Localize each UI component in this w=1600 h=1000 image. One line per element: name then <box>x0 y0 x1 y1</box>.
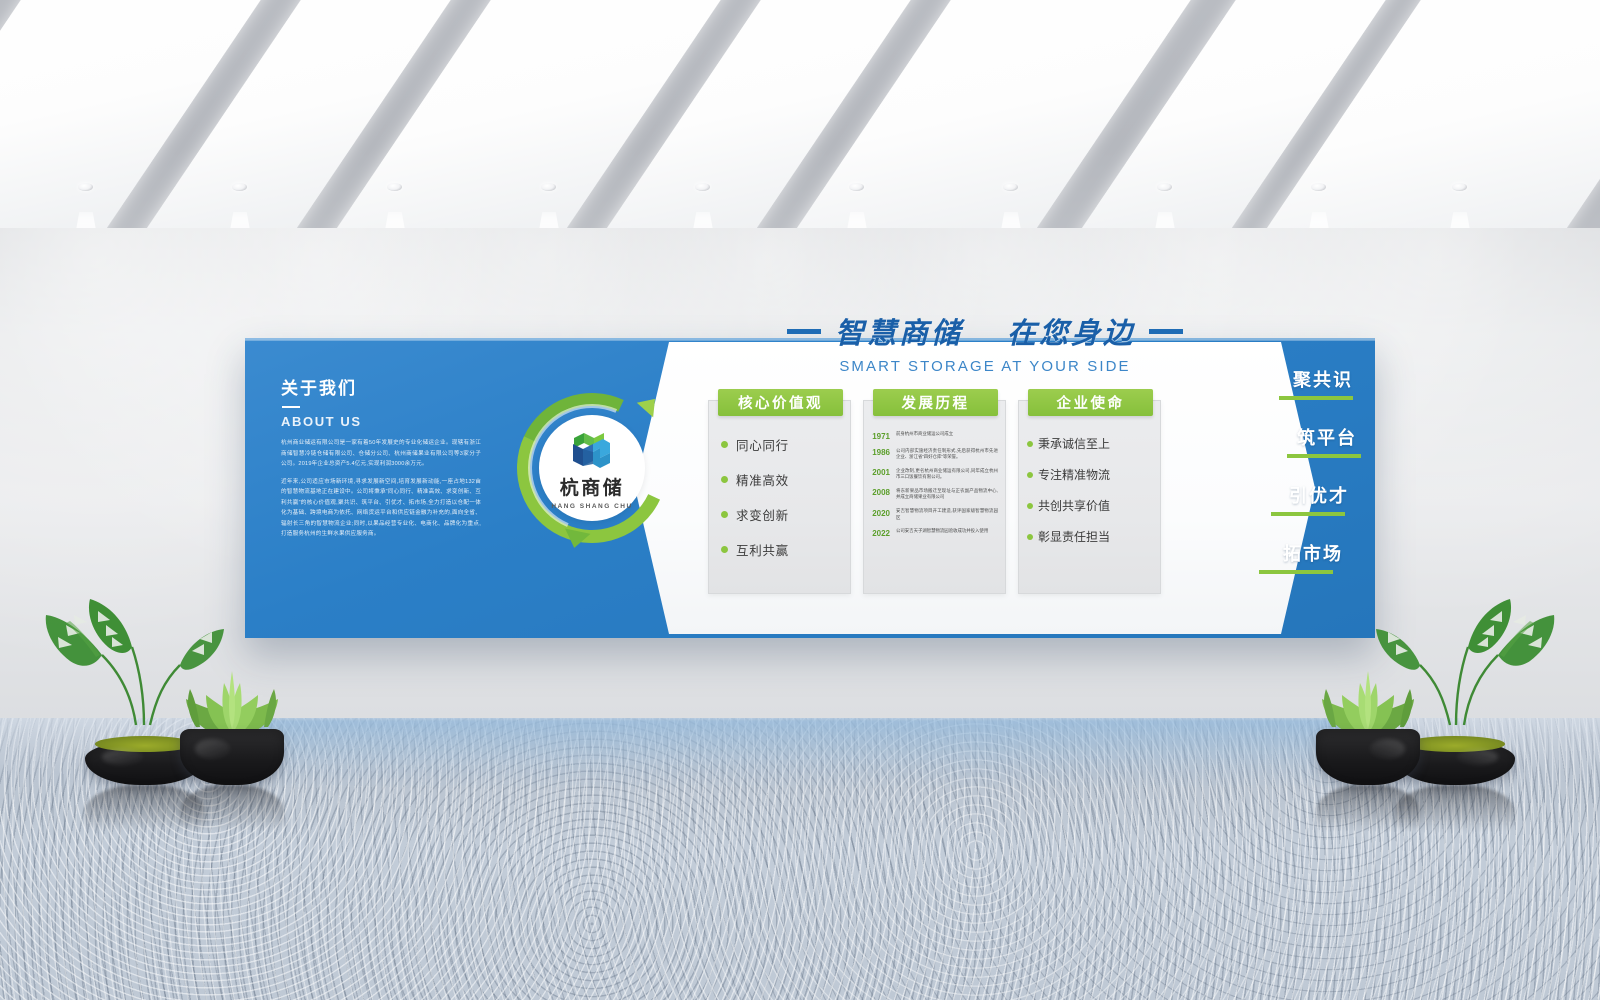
list-item-label: 互利共赢 <box>736 540 789 559</box>
list-item: 彰显责任担当 <box>1027 528 1152 545</box>
pot-highlight <box>195 739 230 759</box>
downlight-icon <box>1157 183 1172 191</box>
keyword-label: 拓市场 <box>1233 540 1343 566</box>
timeline-text: 安吉智慧物流项目开工建造,获评国家级智慧物流园区 <box>896 508 998 521</box>
plant-group-left <box>40 605 340 785</box>
bullet-dot-icon <box>721 441 728 448</box>
plant-pot <box>1316 729 1420 785</box>
timeline-row: 2008 将东新果品市场搬迁至现址与正农副产品物流中心,并成立商储果业有限公司 <box>870 488 998 501</box>
keyword-label: 引优才 <box>1233 482 1349 508</box>
list-item: 精准高效 <box>721 470 842 489</box>
timeline-row: 2022 公司安吉天子湖智慧物流园验收成功并投入使用 <box>870 528 998 538</box>
company-logo: 杭商储 HANG SHANG CHU <box>517 393 667 543</box>
list-item-label: 彰显责任担当 <box>1038 528 1110 545</box>
bullet-dot-icon <box>1027 503 1033 509</box>
list-item: 求变创新 <box>721 505 842 524</box>
about-paragraph: 近年来,公司适应市场新环境,寻求发展新空间,培育发展新动能,一座占地132亩的智… <box>281 477 481 540</box>
keyword-group: 聚共识 筑平台 引优才 拓市场 <box>1233 366 1353 574</box>
title-main-right: 在您身边 <box>1007 310 1135 352</box>
pot-highlight <box>102 749 143 765</box>
timeline-row: 2020 安吉智慧物流项目开工建造,获评国家级智慧物流园区 <box>870 508 998 521</box>
list-item: 同心同行 <box>721 435 842 454</box>
plant-group-right <box>1260 605 1560 785</box>
panel-core-values: 核心价值观 同心同行 精准高效 求变创新 <box>708 400 851 594</box>
bullet-dot-icon <box>1027 472 1033 478</box>
about-heading-en: ABOUT US <box>281 414 481 429</box>
lobby-scene: 智慧商储 在您身边 SMART STORAGE AT YOUR SIDE 关于我… <box>0 0 1600 1000</box>
wall-reflection <box>245 718 1375 788</box>
about-divider <box>282 406 300 408</box>
title-dash-right <box>1149 329 1183 334</box>
keyword-item: 筑平台 <box>1233 424 1357 458</box>
panel-mission-body: 秉承诚信至上 专注精准物流 共创共享价值 彰显责任担当 <box>1019 401 1160 567</box>
keyword-item: 引优才 <box>1233 482 1349 516</box>
list-item-label: 专注精准物流 <box>1038 466 1110 483</box>
pot-reflection <box>180 785 284 831</box>
list-item-label: 秉承诚信至上 <box>1038 435 1110 452</box>
list-item: 专注精准物流 <box>1027 466 1152 483</box>
logo-name-en: HANG SHANG CHU <box>551 503 632 510</box>
wall-title: 智慧商储 在您身边 SMART STORAGE AT YOUR SIDE <box>665 310 1305 375</box>
culture-wall-board: 智慧商储 在您身边 SMART STORAGE AT YOUR SIDE 关于我… <box>245 338 1375 638</box>
timeline-text: 将东新果品市场搬迁至现址与正农副产品物流中心,并成立商储果业有限公司 <box>896 488 998 501</box>
keyword-item: 拓市场 <box>1233 540 1343 574</box>
title-main-row: 智慧商储 在您身边 <box>787 310 1183 352</box>
downlight-icon <box>1311 183 1326 191</box>
downlight-icon <box>849 183 864 191</box>
timeline-year: 2001 <box>870 468 890 481</box>
succulent-plant <box>172 649 292 741</box>
timeline-text: 前身杭州市商业储运公司成立 <box>896 431 998 441</box>
panel-core-values-heading: 核心价值观 <box>718 389 843 416</box>
succulent-plant <box>1308 649 1428 741</box>
panel-history-body: 1971 前身杭州市商业储运公司成立 1986 公司内部实施经济责任制形式,先后… <box>864 401 1005 551</box>
about-us-block: 关于我们 ABOUT US 杭州商业储运有限公司是一家有着50年发展史的专业化储… <box>281 374 481 540</box>
pot-highlight <box>1457 749 1498 765</box>
downlight-icon <box>232 183 247 191</box>
list-item: 互利共赢 <box>721 540 842 559</box>
title-subtitle: SMART STORAGE AT YOUR SIDE <box>665 358 1305 375</box>
timeline-text: 公司安吉天子湖智慧物流园验收成功并投入使用 <box>896 528 998 538</box>
list-item-label: 同心同行 <box>736 435 789 454</box>
pot-reflection <box>1316 785 1420 831</box>
panel-group: 核心价值观 同心同行 精准高效 求变创新 <box>708 400 1161 594</box>
about-paragraph: 杭州商业储运有限公司是一家有着50年发展史的专业化储运企业。现辖有浙江商储智慧冷… <box>281 438 481 470</box>
bullet-dot-icon <box>1027 534 1033 540</box>
downlight-icon <box>1452 183 1467 191</box>
about-heading-zh: 关于我们 <box>281 374 481 399</box>
downlight-icon <box>541 183 556 191</box>
list-item: 秉承诚信至上 <box>1027 435 1152 452</box>
panel-history: 发展历程 1971 前身杭州市商业储运公司成立 1986 公司内部实施经济责任制… <box>863 400 1006 594</box>
logo-disc: 杭商储 HANG SHANG CHU <box>539 415 645 521</box>
bullet-dot-icon <box>1027 441 1033 447</box>
timeline-year: 2022 <box>870 528 890 538</box>
keyword-underline <box>1259 570 1333 574</box>
keyword-underline <box>1287 454 1361 458</box>
list-item: 共创共享价值 <box>1027 497 1152 514</box>
list-item-label: 共创共享价值 <box>1038 497 1110 514</box>
plant-pot <box>180 729 284 785</box>
timeline-row: 2001 企业改制,更名杭州商业储运有限公司,同年成立杭州市三口饭餐饮有限公司。 <box>870 468 998 481</box>
downlight-icon <box>1003 183 1018 191</box>
downlight-icon <box>695 183 710 191</box>
timeline-text: 公司内部实施经济责任制形式,先后获得杭州市先进企业、浙江省“四好仓库”等荣誉。 <box>896 448 998 461</box>
downlight-icon <box>387 183 402 191</box>
list-item-label: 求变创新 <box>736 505 789 524</box>
bullet-dot-icon <box>721 476 728 483</box>
hs-monogram-icon <box>566 426 618 470</box>
timeline-text: 企业改制,更名杭州商业储运有限公司,同年成立杭州市三口饭餐饮有限公司。 <box>896 468 998 481</box>
bullet-dot-icon <box>721 546 728 553</box>
panel-history-heading: 发展历程 <box>873 389 998 416</box>
panel-core-values-body: 同心同行 精准高效 求变创新 互利共赢 <box>709 401 850 567</box>
title-dash-left <box>787 329 821 334</box>
keyword-underline <box>1279 396 1353 400</box>
title-main-left: 智慧商储 <box>835 310 963 352</box>
timeline-row: 1971 前身杭州市商业储运公司成立 <box>870 431 998 441</box>
timeline-year: 2020 <box>870 508 890 521</box>
list-item-label: 精准高效 <box>736 470 789 489</box>
timeline-row: 1986 公司内部实施经济责任制形式,先后获得杭州市先进企业、浙江省“四好仓库”… <box>870 448 998 461</box>
timeline-year: 1971 <box>870 431 890 441</box>
panel-mission-heading: 企业使命 <box>1028 389 1153 416</box>
bullet-dot-icon <box>721 511 728 518</box>
timeline-year: 2008 <box>870 488 890 501</box>
timeline-year: 1986 <box>870 448 890 461</box>
keyword-label: 筑平台 <box>1233 424 1357 450</box>
downlight-icon <box>78 183 93 191</box>
pot-highlight <box>1370 739 1405 759</box>
keyword-underline <box>1271 512 1345 516</box>
logo-name-zh: 杭商储 <box>560 473 625 500</box>
panel-mission: 企业使命 秉承诚信至上 专注精准物流 共创共享价值 <box>1018 400 1161 594</box>
